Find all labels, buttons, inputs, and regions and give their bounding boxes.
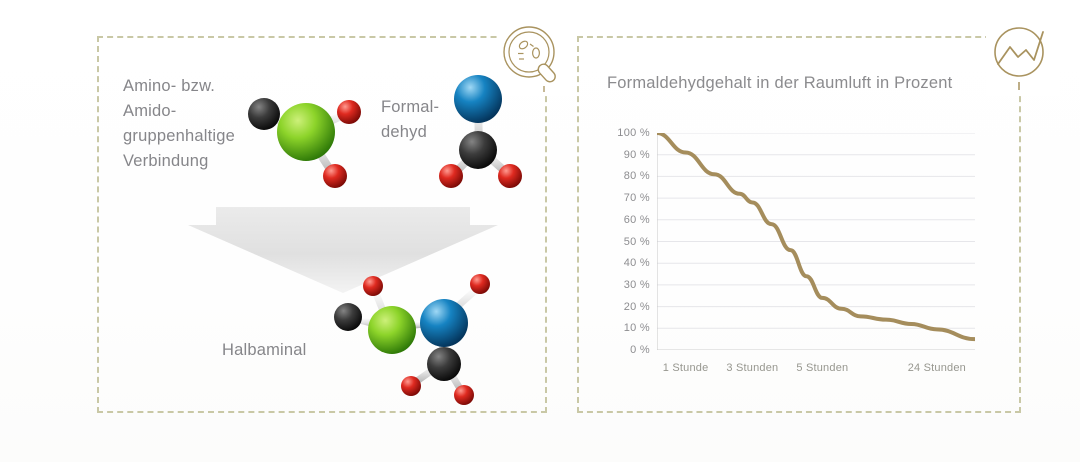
slide-canvas: Amino- bzw. Amido- gruppenhaltige Verbin… — [0, 0, 1080, 462]
y-axis-tick-label: 90 % — [624, 149, 650, 161]
y-axis-tick-label: 60 % — [624, 214, 650, 226]
y-axis-tick-label: 0 % — [630, 344, 650, 356]
x-axis-tick-label: 1 Stunde — [663, 362, 709, 374]
formaldehyde-molecule — [432, 68, 537, 193]
amido-group-molecule — [236, 76, 376, 196]
plot-area — [657, 133, 975, 350]
trend-chart-circle-icon — [986, 22, 1060, 96]
chart-series-line — [657, 133, 975, 339]
y-axis-tick-label: 40 % — [624, 257, 650, 269]
chart-title: Formaldehydgehalt in der Raumluft in Pro… — [607, 74, 952, 93]
y-axis-tick-label: 70 % — [624, 192, 650, 204]
y-axis-tick-label: 10 % — [624, 322, 650, 334]
halbaminal-molecule — [322, 270, 512, 410]
x-axis-tick-label: 24 Stunden — [908, 362, 966, 374]
y-axis-tick-label: 30 % — [624, 279, 650, 291]
x-axis-tick-label: 3 Stunden — [726, 362, 778, 374]
x-axis-tick-label: 5 Stunden — [796, 362, 848, 374]
y-axis-tick-label: 100 % — [617, 127, 650, 139]
y-axis-tick-label: 80 % — [624, 170, 650, 182]
line-chart: 100 %90 %80 %70 %60 %50 %40 %30 %20 %10 … — [600, 120, 1000, 380]
y-axis-tick-label: 50 % — [624, 236, 650, 248]
y-axis-tick-label: 20 % — [624, 301, 650, 313]
